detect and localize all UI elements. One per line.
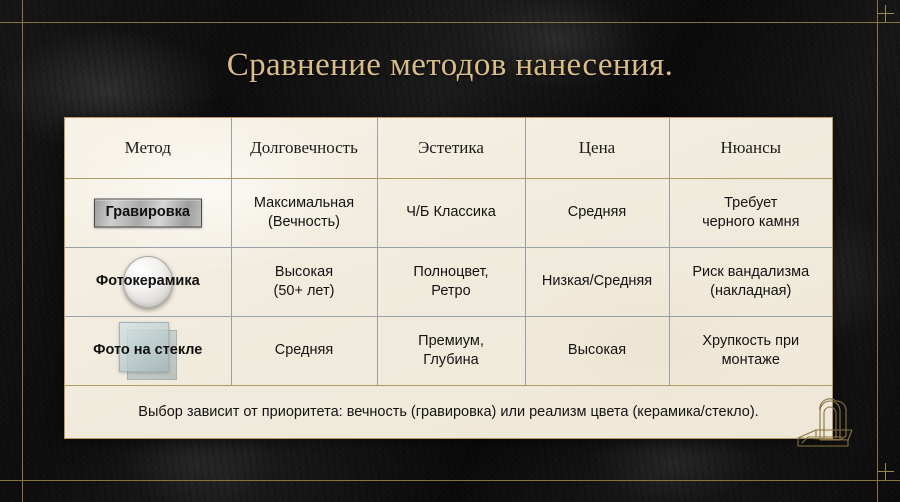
column-header-notes: Нюансы xyxy=(669,118,832,179)
text-line: монтаже xyxy=(676,351,827,370)
text-line: черного камня xyxy=(676,213,827,232)
method-label: Фото на стекле xyxy=(93,341,202,360)
frame-line-top xyxy=(0,22,900,23)
cell-method: Гравировка xyxy=(65,179,231,248)
text-line: Риск вандализма xyxy=(676,263,827,282)
cell-aesthetics: Премиум, Глубина xyxy=(377,317,525,386)
cell-aesthetics: Ч/Б Классика xyxy=(377,179,525,248)
text-line: (накладная) xyxy=(676,282,827,301)
method-label: Гравировка xyxy=(106,203,190,222)
text-line: Средняя xyxy=(238,341,371,360)
text-line: (50+ лет) xyxy=(238,282,371,301)
cell-price: Средняя xyxy=(525,179,669,248)
text-line: Глубина xyxy=(384,351,519,370)
cell-durability: Средняя xyxy=(231,317,377,386)
slide-canvas: Сравнение методов нанесения. Метод Долго… xyxy=(0,0,900,502)
text-line: Ч/Б Классика xyxy=(384,203,519,222)
column-header-price: Цена xyxy=(525,118,669,179)
table-row: Гравировка Максимальная (Вечность) Ч/Б К… xyxy=(65,179,832,248)
column-header-durability: Долговечность xyxy=(231,118,377,179)
text-line: Требует xyxy=(676,194,827,213)
text-line: Хрупкость при xyxy=(676,332,827,351)
text-line: Ретро xyxy=(384,282,519,301)
page-title: Сравнение методов нанесения. xyxy=(0,47,900,84)
cell-durability: Высокая (50+ лет) xyxy=(231,248,377,317)
crosshair-mark-top-right xyxy=(877,5,894,22)
column-header-aesthetics: Эстетика xyxy=(377,118,525,179)
text-line: (Вечность) xyxy=(238,213,371,232)
text-line: Высокая xyxy=(238,263,371,282)
cell-method: Фото на стекле xyxy=(65,317,231,386)
cell-aesthetics: Полноцвет, Ретро xyxy=(377,248,525,317)
comparison-table-card: Метод Долговечность Эстетика Цена Нюансы… xyxy=(64,117,833,439)
comparison-table: Метод Долговечность Эстетика Цена Нюансы… xyxy=(65,118,832,386)
cell-price: Низкая/Средняя xyxy=(525,248,669,317)
method-label: Фотокерамика xyxy=(96,272,200,291)
cell-method: Фотокерамика xyxy=(65,248,231,317)
frame-line-bottom xyxy=(0,480,900,481)
table-body: Гравировка Максимальная (Вечность) Ч/Б К… xyxy=(65,179,832,386)
text-line: Премиум, xyxy=(384,332,519,351)
cell-notes: Риск вандализма (накладная) xyxy=(669,248,832,317)
cell-notes: Хрупкость при монтаже xyxy=(669,317,832,386)
table-header: Метод Долговечность Эстетика Цена Нюансы xyxy=(65,118,832,179)
crosshair-mark-bottom-right xyxy=(877,463,894,480)
table-footnote: Выбор зависит от приоритета: вечность (г… xyxy=(65,386,832,438)
table-header-row: Метод Долговечность Эстетика Цена Нюансы xyxy=(65,118,832,179)
table-row: Фотокерамика Высокая (50+ лет) Полноцвет… xyxy=(65,248,832,317)
cell-price: Высокая xyxy=(525,317,669,386)
table-row: Фото на стекле Средняя Премиум, Глубина … xyxy=(65,317,832,386)
column-header-method: Метод xyxy=(65,118,231,179)
cell-notes: Требует черного камня xyxy=(669,179,832,248)
text-line: Максимальная xyxy=(238,194,371,213)
text-line: Полноцвет, xyxy=(384,263,519,282)
cell-durability: Максимальная (Вечность) xyxy=(231,179,377,248)
